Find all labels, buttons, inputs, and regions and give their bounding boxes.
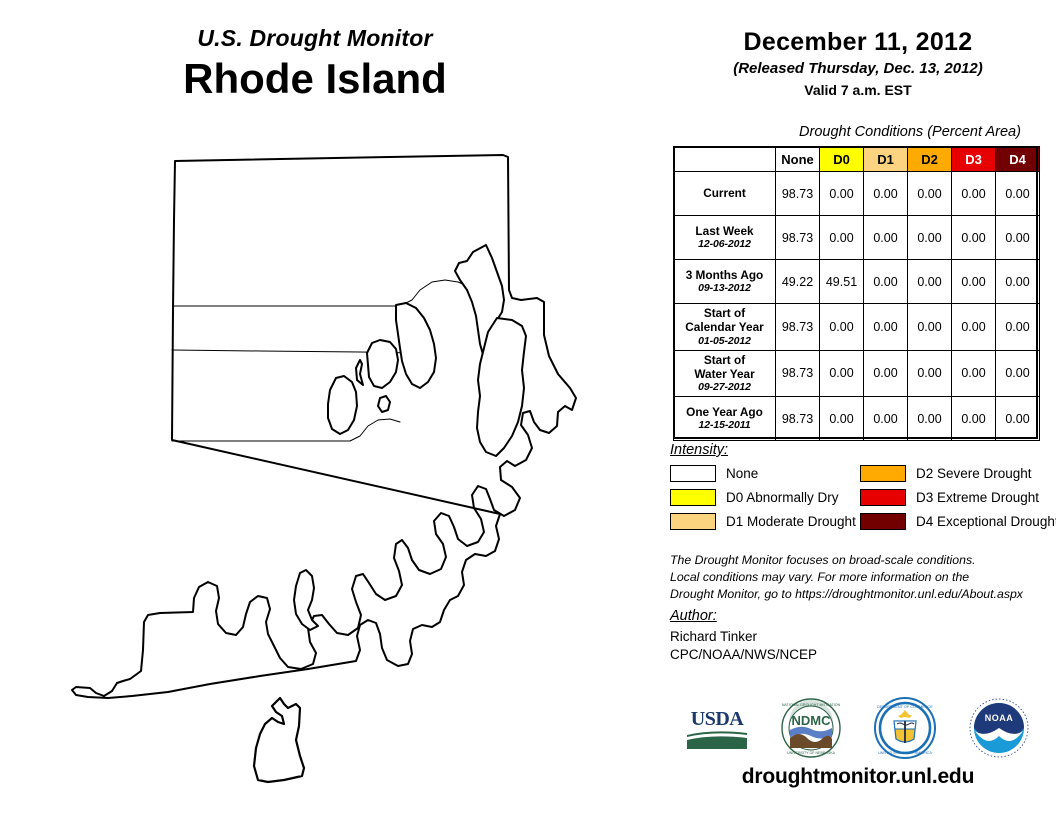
cell-none-0: 98.73 xyxy=(776,172,820,216)
footer-url[interactable]: droughtmonitor.unl.edu xyxy=(660,765,1056,789)
cell-d3-0: 0.00 xyxy=(952,172,996,216)
row-label-line: Start of xyxy=(704,306,745,320)
row-label-line: Current xyxy=(703,186,746,200)
block-island xyxy=(254,698,304,782)
row-label-date: 12-15-2011 xyxy=(677,419,772,432)
legend-item-none: None xyxy=(670,465,860,482)
cell-d2-5: 0.00 xyxy=(908,397,952,441)
cell-none-4: 98.73 xyxy=(776,350,820,397)
released-date: (Released Thursday, Dec. 13, 2012) xyxy=(660,60,1056,77)
cell-d2-3: 0.00 xyxy=(908,304,952,351)
cell-d4-1: 0.00 xyxy=(996,216,1040,260)
cell-d4-5: 0.00 xyxy=(996,397,1040,441)
cell-d0-0: 0.00 xyxy=(820,172,864,216)
svg-text:UNITED STATES OF AMERICA: UNITED STATES OF AMERICA xyxy=(878,751,932,755)
cell-none-3: 98.73 xyxy=(776,304,820,351)
cell-d1-0: 0.00 xyxy=(864,172,908,216)
legend-label-d2: D2 Severe Drought xyxy=(916,466,1032,481)
row-label-1: Last Week12-06-2012 xyxy=(674,216,776,260)
cell-d4-0: 0.00 xyxy=(996,172,1040,216)
noaa-logo-icon: NOAA xyxy=(969,698,1029,758)
row-label-line: Calendar Year xyxy=(685,320,763,334)
author-block: Author: Richard Tinker CPC/NOAA/NWS/NCEP xyxy=(670,608,1056,664)
legend-swatch-d2 xyxy=(860,465,906,482)
intensity-legend-title: Intensity: xyxy=(670,442,1056,458)
cell-d4-3: 0.00 xyxy=(996,304,1040,351)
column-header-d0: D0 xyxy=(820,147,864,172)
legend-swatch-none xyxy=(670,465,716,482)
table-header-row: None D0 D1 D2 D3 D4 xyxy=(674,147,1040,172)
cell-d1-2: 0.00 xyxy=(864,260,908,304)
column-header-d3: D3 xyxy=(952,147,996,172)
doc-logo-icon: DEPARTMENT OF COMMERCE UNITED STATES OF … xyxy=(874,697,936,759)
legend-label-d1: D1 Moderate Drought xyxy=(726,514,856,529)
cell-d2-0: 0.00 xyxy=(908,172,952,216)
table-caption: Drought Conditions (Percent Area) xyxy=(765,124,1055,140)
cell-d3-1: 0.00 xyxy=(952,216,996,260)
legend-item-d2: D2 Severe Drought xyxy=(860,465,1056,482)
cell-d2-1: 0.00 xyxy=(908,216,952,260)
cell-d0-5: 0.00 xyxy=(820,397,864,441)
rhode-island-map-svg xyxy=(60,130,640,790)
svg-text:NATIONAL DROUGHT MITIGATION: NATIONAL DROUGHT MITIGATION xyxy=(782,703,841,707)
south-coast-point xyxy=(294,570,318,630)
cell-d0-3: 0.00 xyxy=(820,304,864,351)
table-row: 3 Months Ago09-13-201249.2249.510.000.00… xyxy=(674,260,1040,304)
legend-swatch-d0 xyxy=(670,489,716,506)
legend-item-d0: D0 Abnormally Dry xyxy=(670,489,860,506)
row-label-line: Water Year xyxy=(694,367,754,381)
drought-monitor-supertitle: U.S. Drought Monitor xyxy=(0,26,630,51)
column-header-d1: D1 xyxy=(864,147,908,172)
usda-logo-icon: USDA xyxy=(683,704,751,752)
table-row: One Year Ago12-15-201198.730.000.000.000… xyxy=(674,397,1040,441)
rhode-island-map xyxy=(60,130,640,790)
date-block: December 11, 2012 (Released Thursday, De… xyxy=(660,28,1056,98)
ndmc-logo: NDMC NATIONAL DROUGHT MITIGATION UNIVERS… xyxy=(777,694,845,762)
author-title: Author: xyxy=(670,608,1056,624)
cell-d1-5: 0.00 xyxy=(864,397,908,441)
svg-text:NDMC: NDMC xyxy=(792,713,832,728)
cell-d2-2: 0.00 xyxy=(908,260,952,304)
row-label-0: Current xyxy=(674,172,776,216)
svg-text:NOAA: NOAA xyxy=(985,713,1014,723)
column-header-d4: D4 xyxy=(996,147,1040,172)
table-body: Current98.730.000.000.000.000.00Last Wee… xyxy=(674,172,1040,441)
cell-d2-4: 0.00 xyxy=(908,350,952,397)
table-row: Start ofCalendar Year01-05-201298.730.00… xyxy=(674,304,1040,351)
legend-label-d4: D4 Exceptional Drought xyxy=(916,514,1056,529)
cell-d4-4: 0.00 xyxy=(996,350,1040,397)
right-info-panel: December 11, 2012 (Released Thursday, De… xyxy=(660,0,1056,816)
column-header-none: None xyxy=(776,147,820,172)
valid-time: Valid 7 a.m. EST xyxy=(660,82,1056,98)
table-row: Current98.730.000.000.000.000.00 xyxy=(674,172,1040,216)
svg-text:DEPARTMENT OF COMMERCE: DEPARTMENT OF COMMERCE xyxy=(877,705,933,709)
column-header-d2: D2 xyxy=(908,147,952,172)
cell-d1-1: 0.00 xyxy=(864,216,908,260)
svg-text:UNIVERSITY OF NEBRASKA: UNIVERSITY OF NEBRASKA xyxy=(787,751,836,755)
legend-grid: None D2 Severe Drought D0 Abnormally Dry… xyxy=(670,465,1056,530)
cell-d3-3: 0.00 xyxy=(952,304,996,351)
legend-swatch-d4 xyxy=(860,513,906,530)
row-label-5: One Year Ago12-15-2011 xyxy=(674,397,776,441)
legend-item-d4: D4 Exceptional Drought xyxy=(860,513,1056,530)
intensity-legend: Intensity: None D2 Severe Drought D0 Abn… xyxy=(670,442,1056,530)
row-label-2: 3 Months Ago09-13-2012 xyxy=(674,260,776,304)
noaa-logo: NOAA xyxy=(965,694,1033,762)
map-title-block: U.S. Drought Monitor Rhode Island xyxy=(0,26,630,102)
legend-item-d3: D3 Extreme Drought xyxy=(860,489,1056,506)
cell-d3-2: 0.00 xyxy=(952,260,996,304)
row-label-line: 3 Months Ago xyxy=(686,268,764,282)
cell-d0-1: 0.00 xyxy=(820,216,864,260)
row-label-3: Start ofCalendar Year01-05-2012 xyxy=(674,304,776,351)
cell-d4-2: 0.00 xyxy=(996,260,1040,304)
disclaimer-line-1: The Drought Monitor focuses on broad-sca… xyxy=(670,552,1056,569)
row-label-4: Start ofWater Year09-27-2012 xyxy=(674,350,776,397)
row-label-date: 01-05-2012 xyxy=(677,335,772,348)
table-row: Last Week12-06-201298.730.000.000.000.00… xyxy=(674,216,1040,260)
table-row: Start ofWater Year09-27-201298.730.000.0… xyxy=(674,350,1040,397)
usda-logo: USDA xyxy=(683,694,751,762)
row-label-line: Last Week xyxy=(695,224,753,238)
drought-conditions-table: None D0 D1 D2 D3 D4 Current98.730.000.00… xyxy=(673,146,1040,441)
cell-d3-4: 0.00 xyxy=(952,350,996,397)
agency-logo-row: USDA NDMC NATIONAL DROUGHT MITIGATION UN… xyxy=(660,692,1056,764)
report-date: December 11, 2012 xyxy=(660,28,1056,57)
cell-d0-2: 49.51 xyxy=(820,260,864,304)
legend-swatch-d3 xyxy=(860,489,906,506)
row-label-date: 09-13-2012 xyxy=(677,282,772,295)
author-affiliation: CPC/NOAA/NWS/NCEP xyxy=(670,646,1056,664)
ndmc-logo-icon: NDMC NATIONAL DROUGHT MITIGATION UNIVERS… xyxy=(781,698,841,758)
legend-item-d1: D1 Moderate Drought xyxy=(670,513,860,530)
disclaimer-line-2: Local conditions may vary. For more info… xyxy=(670,569,1056,586)
cell-d0-4: 0.00 xyxy=(820,350,864,397)
legend-label-d0: D0 Abnormally Dry xyxy=(726,490,839,505)
island-small-1 xyxy=(378,396,390,412)
legend-label-d3: D3 Extreme Drought xyxy=(916,490,1039,505)
author-name: Richard Tinker xyxy=(670,628,1056,646)
table-corner-cell xyxy=(674,147,776,172)
row-label-line: Start of xyxy=(704,353,745,367)
row-label-date: 09-27-2012 xyxy=(677,381,772,394)
disclaimer-line-3: Drought Monitor, go to https://droughtmo… xyxy=(670,586,1056,603)
legend-label-none: None xyxy=(726,466,758,481)
cell-none-5: 98.73 xyxy=(776,397,820,441)
cell-d1-3: 0.00 xyxy=(864,304,908,351)
cell-none-2: 49.22 xyxy=(776,260,820,304)
page-title: Rhode Island xyxy=(0,55,630,102)
legend-swatch-d1 xyxy=(670,513,716,530)
doc-logo: DEPARTMENT OF COMMERCE UNITED STATES OF … xyxy=(871,694,939,762)
row-label-date: 12-06-2012 xyxy=(677,238,772,251)
cell-none-1: 98.73 xyxy=(776,216,820,260)
cell-d1-4: 0.00 xyxy=(864,350,908,397)
svg-text:USDA: USDA xyxy=(691,708,745,730)
cell-d3-5: 0.00 xyxy=(952,397,996,441)
row-label-line: One Year Ago xyxy=(686,405,763,419)
disclaimer-text: The Drought Monitor focuses on broad-sca… xyxy=(670,552,1056,603)
